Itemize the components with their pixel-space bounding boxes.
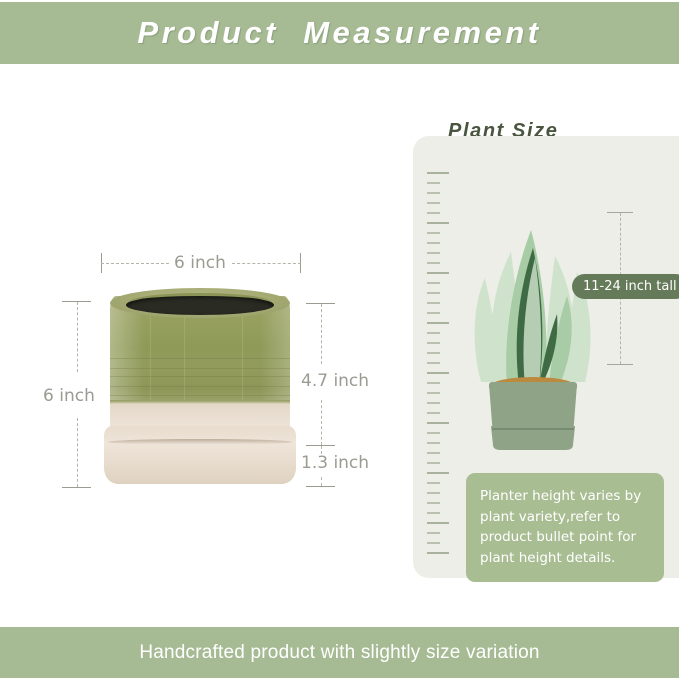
ruler-tick — [427, 332, 440, 334]
ruler-tick — [427, 202, 440, 204]
ruler-tick — [427, 322, 449, 324]
ruler-tick — [427, 532, 440, 534]
total-height-label: 6 inch — [43, 386, 95, 406]
saucer-height-line-bottom — [321, 477, 322, 486]
ruler-tick — [427, 542, 440, 544]
ruler-tick — [427, 292, 440, 294]
planter-height-note: Planter height varies by plant variety,r… — [466, 473, 664, 582]
ruler-tick — [427, 232, 440, 234]
product-photo-pot — [104, 288, 296, 488]
plant-height-badge: 11-24 inch tall — [572, 274, 679, 299]
ruler-tick — [427, 222, 449, 224]
ruler-tick — [427, 372, 449, 374]
total-height-line-top — [77, 302, 78, 372]
ruler-tick — [427, 272, 449, 274]
ruler-tick — [427, 182, 440, 184]
ruler-tick — [427, 362, 440, 364]
ruler-tick — [427, 382, 440, 384]
ruler-tick — [427, 412, 440, 414]
pot-inner-wall — [128, 293, 272, 312]
width-dimension-line-left — [101, 263, 169, 264]
saucer-height-cap-bottom — [306, 486, 335, 487]
plant-height-cap-bottom — [607, 364, 633, 365]
total-height-cap-bottom — [62, 487, 91, 488]
width-dimension-label: 6 inch — [174, 253, 226, 273]
ruler-tick — [427, 392, 440, 394]
pot-throwing-line — [110, 368, 290, 369]
ruler-tick — [427, 502, 440, 504]
header-banner: Product Measurement — [0, 2, 679, 64]
page-title: Product Measurement — [137, 15, 541, 51]
ruler-tick — [427, 242, 440, 244]
ruler-tick — [427, 482, 440, 484]
width-dimension-line-right — [232, 263, 301, 264]
ruler-tick — [427, 492, 440, 494]
ruler-tick — [427, 302, 440, 304]
ruler-tick — [427, 432, 440, 434]
ruler-tick — [427, 472, 449, 474]
ruler-tick — [427, 192, 440, 194]
ruler-tick — [427, 442, 440, 444]
ruler-tick — [427, 172, 449, 174]
ruler-tick — [427, 452, 440, 454]
ruler-tick — [427, 212, 440, 214]
snake-plant-illustration — [463, 186, 603, 451]
pot-throwing-line — [110, 376, 290, 377]
pot-throwing-line — [110, 386, 290, 387]
ruler-tick — [427, 522, 449, 524]
ruler-tick — [427, 342, 440, 344]
pot-throwing-line — [110, 358, 290, 359]
pot-height-line-top — [321, 304, 322, 364]
pot-height-line-bottom — [321, 400, 322, 445]
pot-saucer — [104, 426, 296, 484]
pot-body — [110, 296, 290, 446]
saucer-height-label: 1.3 inch — [301, 453, 369, 473]
ruler-tick — [427, 402, 440, 404]
ruler-tick — [427, 262, 440, 264]
ruler-tick — [427, 462, 440, 464]
ruler-tick — [427, 252, 440, 254]
pot-throwing-line — [110, 395, 290, 396]
footer-note: Handcrafted product with slightly size v… — [139, 642, 539, 664]
ruler-tick — [427, 552, 449, 554]
ruler-tick — [427, 422, 449, 424]
footer-banner: Handcrafted product with slightly size v… — [0, 627, 679, 678]
ruler-tick — [427, 312, 440, 314]
ruler-tick — [427, 282, 440, 284]
total-height-line-bottom — [77, 418, 78, 487]
ruler-graphic — [427, 172, 453, 562]
pot-height-label: 4.7 inch — [301, 371, 369, 391]
ruler-tick — [427, 352, 440, 354]
ruler-tick — [427, 512, 440, 514]
saucer-seam — [108, 439, 292, 445]
